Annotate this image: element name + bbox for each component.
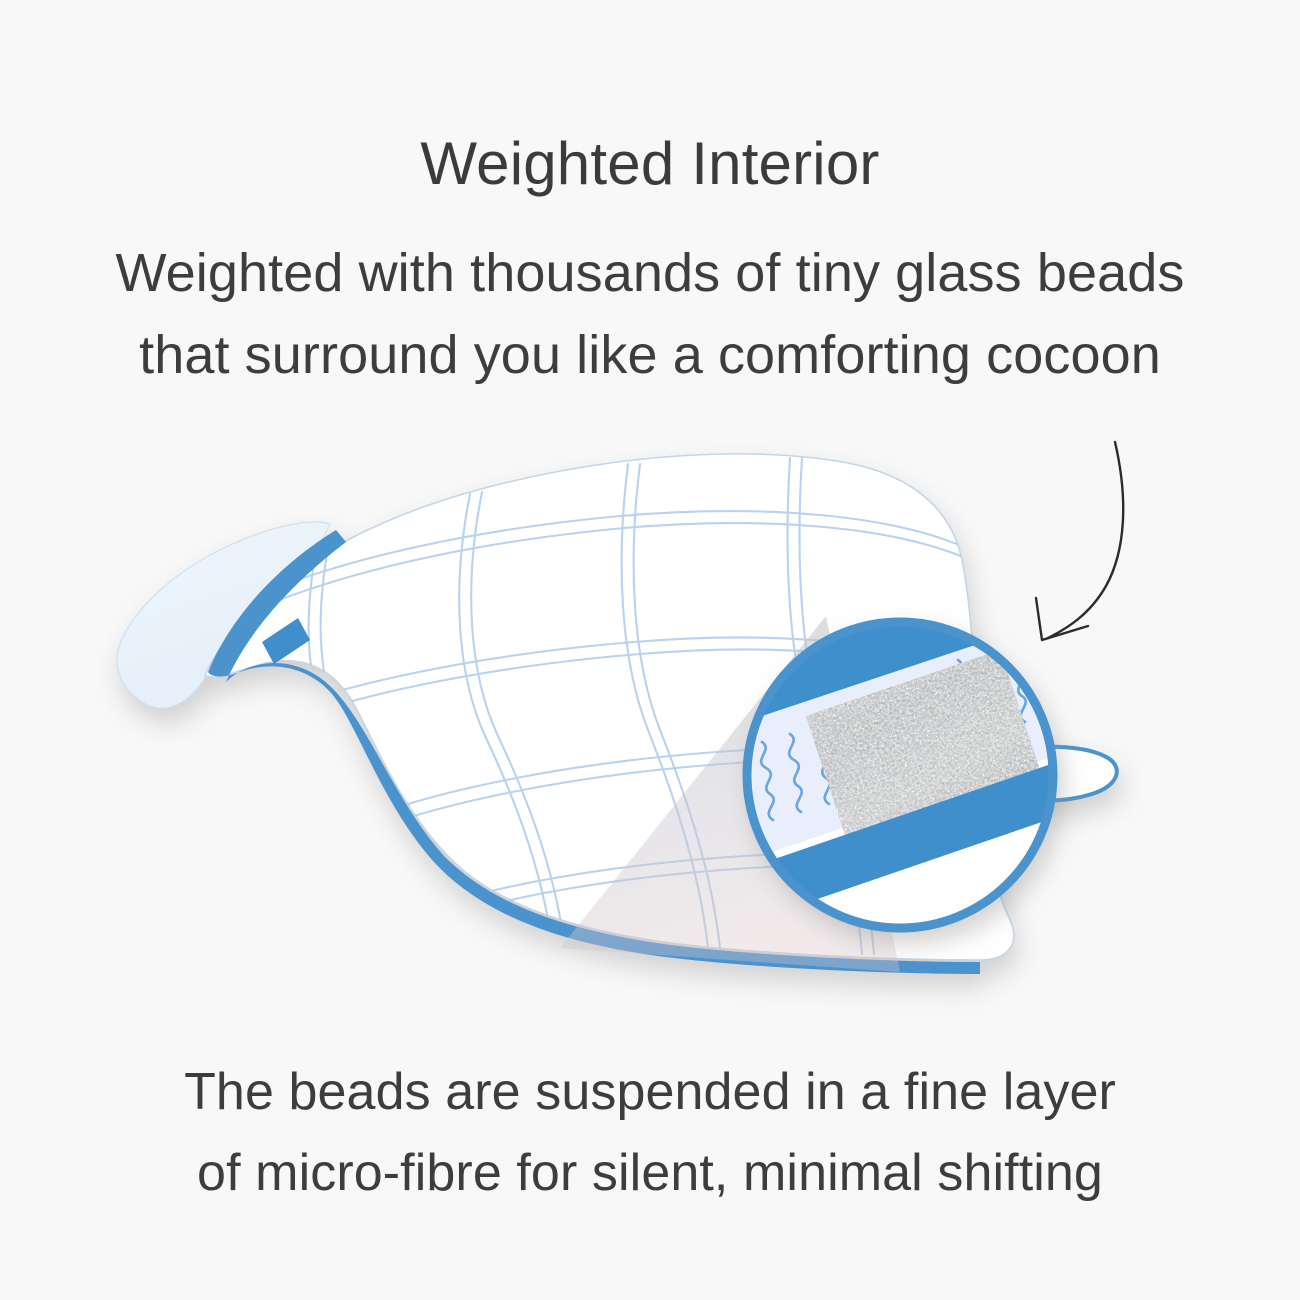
subheading-line-1: Weighted with thousands of tiny glass be…	[0, 232, 1300, 314]
caption-line-2: of micro-fibre for silent, minimal shift…	[0, 1133, 1300, 1214]
pointer-arrow	[1036, 442, 1123, 640]
subheading-line-2: that surround you like a comforting coco…	[0, 314, 1300, 396]
arrow-head	[1036, 598, 1088, 640]
caption-text: The beads are suspended in a fine layer …	[0, 1052, 1300, 1213]
blanket-illustration-svg	[0, 420, 1300, 1040]
page-title: Weighted Interior	[0, 132, 1300, 195]
caption-line-1: The beads are suspended in a fine layer	[0, 1052, 1300, 1133]
arrow-shaft	[1048, 442, 1123, 638]
subheading-text: Weighted with thousands of tiny glass be…	[0, 232, 1300, 396]
blanket-illustration	[0, 420, 1300, 1040]
product-feature-card: Weighted Interior Weighted with thousand…	[0, 0, 1300, 1300]
